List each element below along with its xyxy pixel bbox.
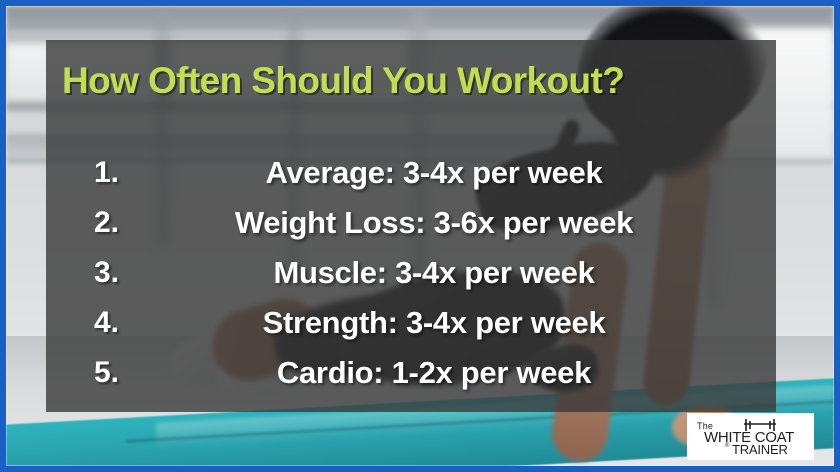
list-item: 5. Cardio: 1-2x per week [46,348,776,398]
brand-logo[interactable]: The WHITE COAT ® TRAINER [687,413,814,460]
list-item-number: 3. [94,256,119,290]
page-title: How Often Should You Workout? [62,60,624,102]
list-item: 2. Weight Loss: 3-6x per week [46,198,776,248]
workout-frequency-list: 1. Average: 3-4x per week 2. Weight Loss… [46,148,776,398]
list-item-label: Strength: 3-4x per week [46,305,776,341]
list-item-number: 1. [94,156,119,190]
logo-line-trainer: TRAINER [732,442,788,457]
content-panel: How Often Should You Workout? 1. Average… [46,40,776,412]
list-item: 3. Muscle: 3-4x per week [46,248,776,298]
list-item-label: Average: 3-4x per week [46,155,776,191]
list-item-label: Weight Loss: 3-6x per week [46,205,776,241]
list-item-number: 2. [94,206,119,240]
list-item-label: Muscle: 3-4x per week [46,255,776,291]
list-item-label: Cardio: 1-2x per week [46,355,776,391]
infographic-card: How Often Should You Workout? 1. Average… [0,0,840,472]
list-item: 4. Strength: 3-4x per week [46,298,776,348]
registered-mark-icon: ® [725,443,729,449]
list-item: 1. Average: 3-4x per week [46,148,776,198]
list-item-number: 4. [94,306,119,340]
list-item-number: 5. [94,356,119,390]
